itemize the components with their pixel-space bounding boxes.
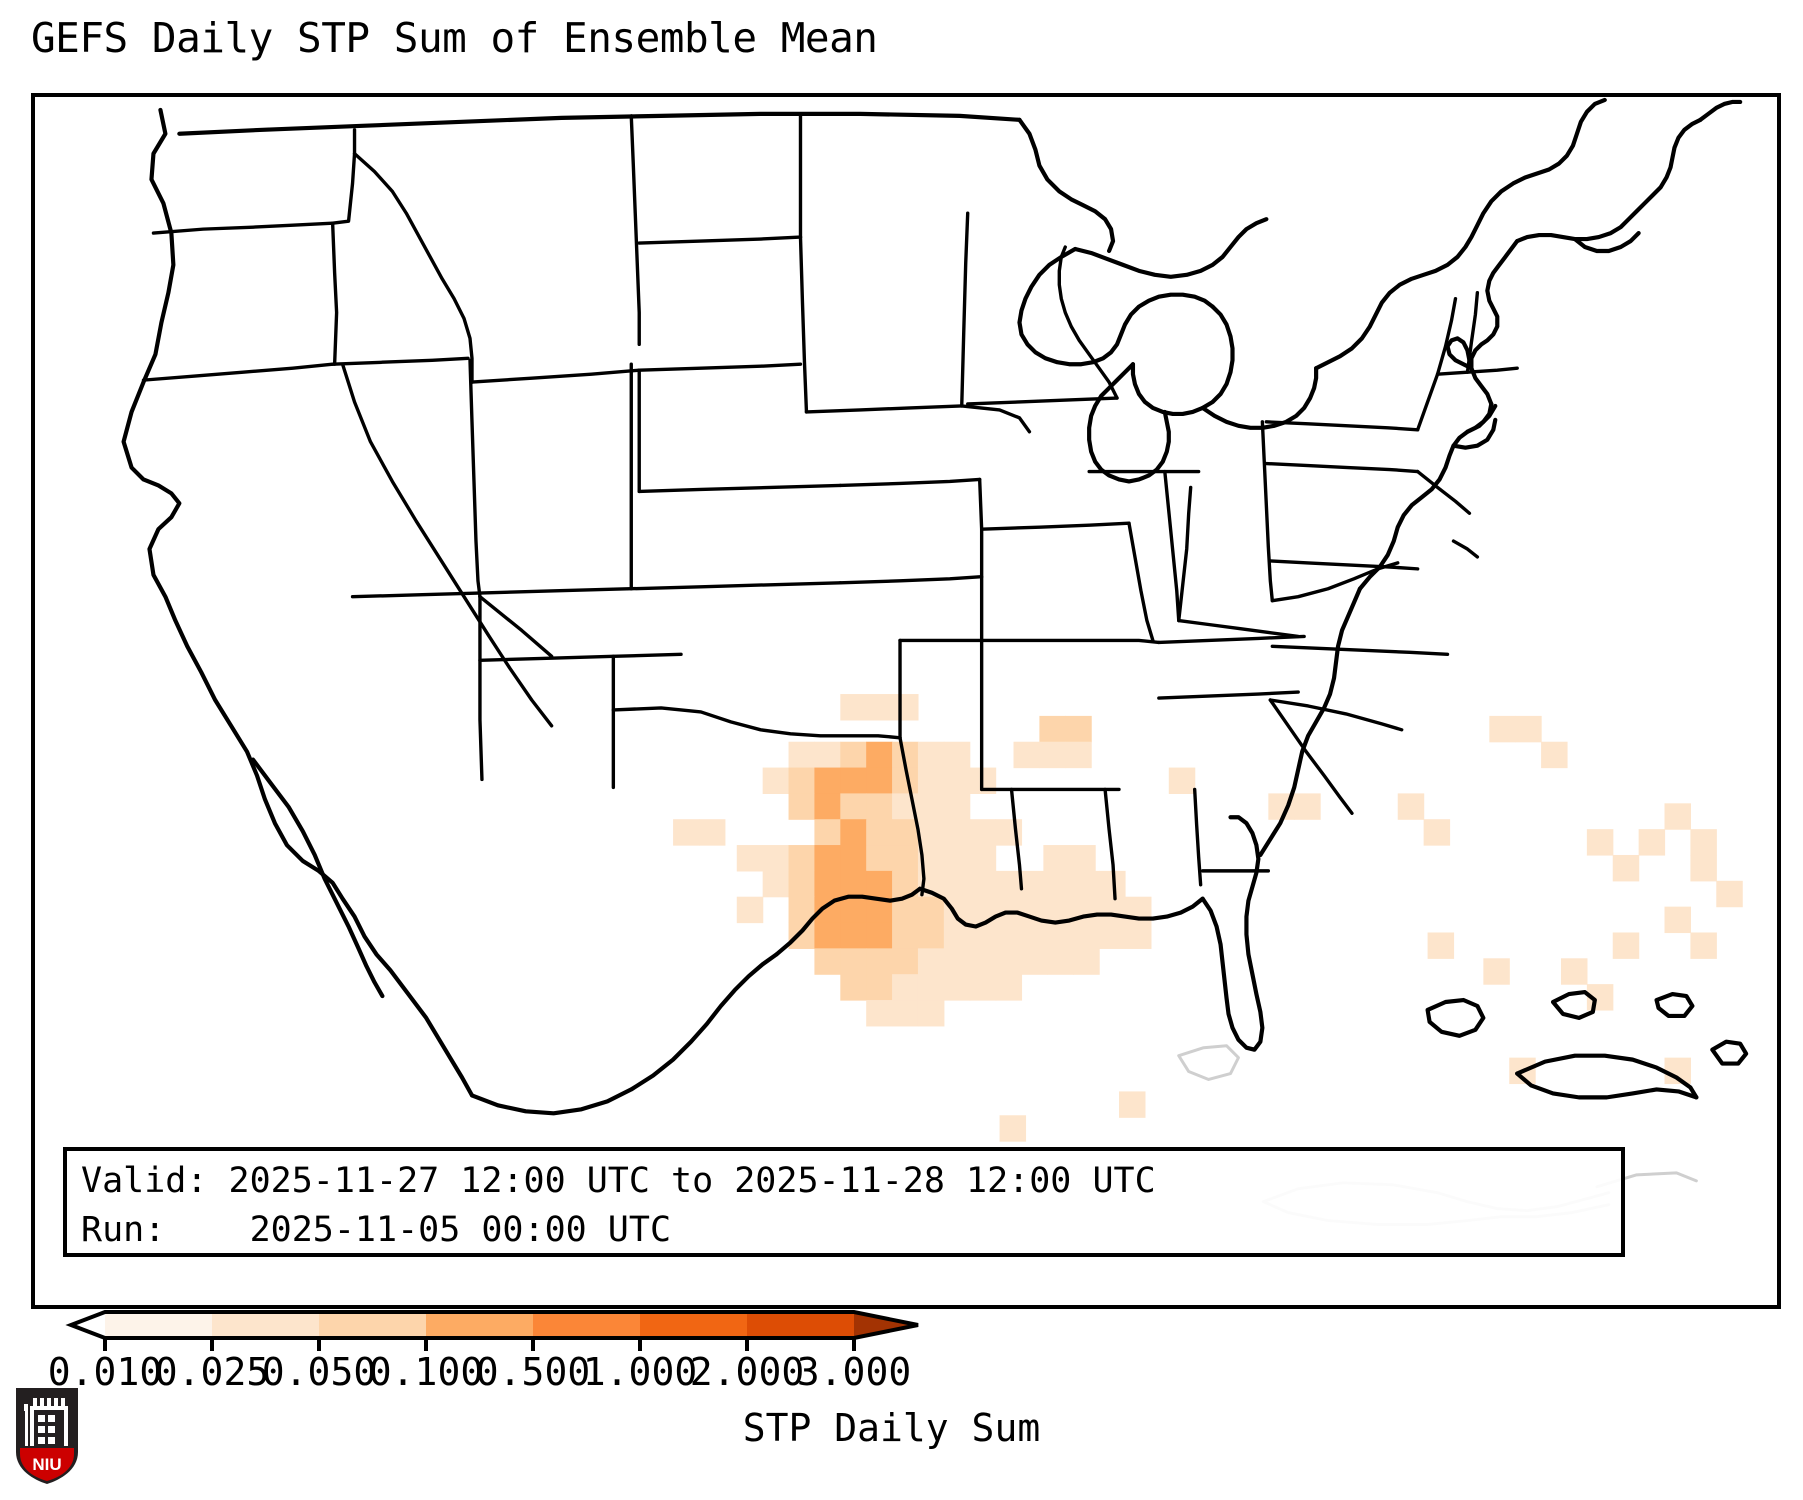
data-cell: [1639, 829, 1665, 855]
data-cell: [944, 742, 970, 768]
data-cell: [1587, 829, 1613, 855]
colorbar[interactable]: 0.0100.0250.0500.1000.5001.0002.0003.000…: [0, 1310, 1803, 1500]
data-cell: [866, 694, 892, 720]
data-cell: [789, 793, 815, 819]
data-cell: [970, 845, 996, 871]
niu-logo: NIU: [14, 1386, 80, 1486]
data-cell: [996, 948, 1022, 974]
data-cell: [814, 845, 840, 871]
data-cell: [1424, 819, 1450, 845]
data-cell: [1039, 716, 1065, 742]
data-cell: [789, 871, 815, 897]
data-cell: [866, 923, 892, 949]
data-cell-layer: [673, 694, 1743, 1142]
data-cell: [918, 742, 944, 768]
data-cell: [1047, 948, 1073, 974]
data-cell: [944, 819, 970, 845]
data-cell: [918, 897, 944, 923]
data-cell: [814, 819, 840, 845]
data-cell: [673, 819, 699, 845]
data-cell: [1541, 742, 1567, 768]
colorbar-band: [640, 1312, 748, 1338]
data-cell: [1613, 855, 1639, 881]
data-cell: [763, 845, 789, 871]
data-cell: [814, 768, 840, 794]
data-cell: [1483, 958, 1509, 984]
data-cell: [840, 974, 866, 1000]
data-cell: [944, 974, 970, 1000]
data-cell: [996, 897, 1022, 923]
data-cell: [1021, 948, 1047, 974]
data-cell: [1021, 923, 1047, 949]
data-cell: [814, 948, 840, 974]
data-cell: [918, 1000, 944, 1026]
data-cell: [1169, 768, 1195, 794]
data-cell: [1398, 793, 1424, 819]
data-cell: [892, 974, 918, 1000]
colorbar-tick-label: 0.500: [476, 1350, 590, 1394]
data-cell: [944, 948, 970, 974]
data-cell: [1690, 855, 1716, 881]
data-cell: [866, 871, 892, 897]
data-cell: [1047, 871, 1073, 897]
data-cell: [737, 897, 763, 923]
data-cell: [892, 819, 918, 845]
colorbar-band: [533, 1312, 641, 1338]
colorbar-tick-label: 3.000: [797, 1350, 911, 1394]
data-cell: [1099, 923, 1125, 949]
data-cell: [1690, 829, 1716, 855]
data-cell: [840, 845, 866, 871]
data-cell: [1043, 845, 1069, 871]
data-cell: [1014, 742, 1040, 768]
data-cell: [970, 948, 996, 974]
colorbar-band: [426, 1312, 534, 1338]
data-cell: [892, 694, 918, 720]
data-cell: [840, 793, 866, 819]
info-run-line: Run: 2025-11-05 00:00 UTC: [81, 1206, 1607, 1255]
data-cell: [866, 845, 892, 871]
data-cell: [789, 742, 815, 768]
data-cell: [866, 768, 892, 794]
map-panel: Valid: 2025-11-27 12:00 UTC to 2025-11-2…: [31, 93, 1781, 1309]
data-cell: [1069, 845, 1095, 871]
data-cell: [866, 974, 892, 1000]
data-cell: [789, 923, 815, 949]
data-cell: [866, 819, 892, 845]
data-cell: [840, 948, 866, 974]
data-cell: [840, 871, 866, 897]
data-cell: [970, 871, 996, 897]
colorbar-axis-label: STP Daily Sum: [0, 1406, 1803, 1450]
info-valid-line: Valid: 2025-11-27 12:00 UTC to 2025-11-2…: [81, 1157, 1607, 1206]
colorbar-tick-label: 0.050: [262, 1350, 376, 1394]
data-cell: [1119, 1091, 1145, 1117]
data-cell: [1065, 742, 1091, 768]
data-cell: [840, 923, 866, 949]
data-cell: [1000, 1115, 1026, 1141]
data-cell: [944, 768, 970, 794]
data-cell: [814, 742, 840, 768]
data-cell: [918, 768, 944, 794]
data-cell: [1099, 897, 1125, 923]
data-cell: [1515, 716, 1541, 742]
data-cell: [789, 845, 815, 871]
niu-logo-text: NIU: [32, 1455, 61, 1474]
data-cell: [892, 845, 918, 871]
data-cell: [737, 845, 763, 871]
data-cell: [1613, 932, 1639, 958]
data-cell: [1561, 958, 1587, 984]
data-cell: [814, 793, 840, 819]
data-cell: [918, 923, 944, 949]
data-cell: [1073, 948, 1099, 974]
colorbar-bands: [71, 1312, 918, 1338]
data-cell: [1021, 871, 1047, 897]
data-cell: [996, 871, 1022, 897]
data-cell: [918, 948, 944, 974]
data-cell: [840, 742, 866, 768]
map-svg: [35, 97, 1777, 1305]
data-cell: [840, 768, 866, 794]
colorbar-band: [319, 1312, 427, 1338]
data-cell: [1125, 923, 1151, 949]
data-cell: [918, 793, 944, 819]
colorbar-band: [747, 1312, 855, 1338]
data-cell: [1665, 803, 1691, 829]
colorbar-tick-label: 0.025: [155, 1350, 269, 1394]
data-cell: [1039, 742, 1065, 768]
data-cell: [1294, 793, 1320, 819]
data-cell: [1428, 932, 1454, 958]
data-cell: [866, 742, 892, 768]
data-cell: [866, 793, 892, 819]
data-cell: [892, 948, 918, 974]
data-cell: [840, 694, 866, 720]
data-cell: [699, 819, 725, 845]
colorbar-tick-label: 0.100: [369, 1350, 483, 1394]
data-cell: [814, 871, 840, 897]
data-cell: [763, 768, 789, 794]
data-cell: [970, 819, 996, 845]
data-cell: [996, 923, 1022, 949]
data-cell: [944, 871, 970, 897]
data-cell: [996, 974, 1022, 1000]
data-cell: [1489, 716, 1515, 742]
colorbar-axis-label-text: STP Daily Sum: [743, 1406, 1040, 1450]
data-cell: [1716, 881, 1742, 907]
colorbar-tick-label: 2.000: [690, 1350, 804, 1394]
data-cell: [789, 768, 815, 794]
data-cell: [918, 974, 944, 1000]
data-cell: [918, 819, 944, 845]
data-cell: [944, 793, 970, 819]
data-cell: [866, 1000, 892, 1026]
data-cell: [892, 1000, 918, 1026]
info-box: Valid: 2025-11-27 12:00 UTC to 2025-11-2…: [63, 1147, 1625, 1257]
colorbar-tick-label: 1.000: [583, 1350, 697, 1394]
data-cell: [892, 923, 918, 949]
data-cell: [1665, 907, 1691, 933]
data-cell: [840, 819, 866, 845]
data-cell: [814, 923, 840, 949]
colorbar-band: [105, 1312, 213, 1338]
data-cell: [1065, 716, 1091, 742]
data-cell: [970, 974, 996, 1000]
data-cell: [866, 948, 892, 974]
data-cell: [1047, 923, 1073, 949]
page-title: GEFS Daily STP Sum of Ensemble Mean: [31, 14, 877, 62]
data-cell: [763, 871, 789, 897]
colorbar-band: [212, 1312, 320, 1338]
data-cell: [1073, 923, 1099, 949]
data-cell: [1690, 932, 1716, 958]
data-cell: [1073, 871, 1099, 897]
data-cell: [840, 897, 866, 923]
data-cell: [944, 845, 970, 871]
